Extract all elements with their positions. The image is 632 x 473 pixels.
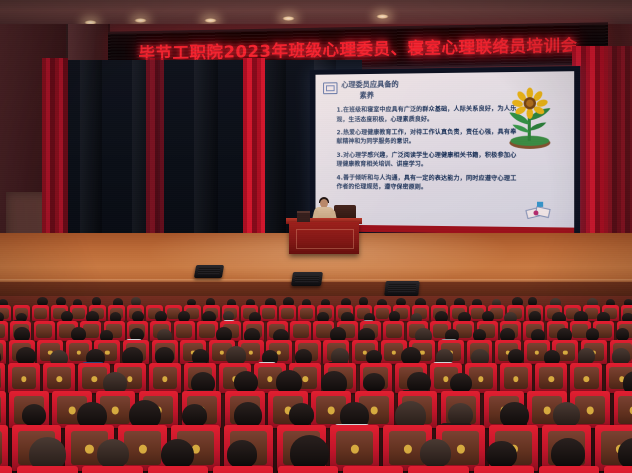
- audience-member: [363, 373, 385, 393]
- seat-number-emblem: [535, 350, 539, 355]
- seat-number-emblem: [443, 376, 448, 382]
- seat-number-emblem: [162, 376, 167, 382]
- seat-number-emblem: [69, 407, 76, 414]
- audience-member: [97, 439, 129, 468]
- seat-number-emblem: [478, 376, 483, 382]
- audience-area: [0, 296, 632, 473]
- seat-number-emblem: [248, 350, 252, 355]
- seat-number-emblem: [21, 376, 26, 382]
- slide-title: 心理委员应具备的 素养: [341, 80, 398, 102]
- audience-member: [486, 441, 516, 469]
- audience-member: [508, 349, 524, 364]
- slide-point: 3.对心理学感兴趣，广泛阅读学生心理健康相关书籍，积极参加心理健康教育相关培训、…: [337, 151, 517, 170]
- seat-number-emblem: [513, 376, 518, 382]
- audience-member: [234, 402, 262, 428]
- stage-curtain-left: [42, 58, 68, 258]
- seat-number-emblem: [404, 445, 412, 454]
- ceiling-downlight: [282, 16, 295, 21]
- audience-member: [578, 348, 595, 364]
- stage-curtain-far-right: [604, 46, 632, 261]
- audience-member: [616, 328, 629, 340]
- seat-number-emblem: [584, 376, 589, 382]
- audience-member: [450, 373, 472, 393]
- seat-number-emblem: [351, 445, 359, 454]
- seat-number-emblem: [549, 376, 554, 382]
- seat-number-emblem: [92, 376, 97, 382]
- stage-curtain-mid: [243, 58, 265, 256]
- seat-number-emblem: [563, 350, 567, 355]
- curtain-fold: [194, 60, 218, 260]
- audience-member: [473, 329, 486, 341]
- slide-point: 2.热爱心理健康教育工作，对待工作认真负责，责任心强，具有奉献精神和为同学服务的…: [337, 128, 517, 147]
- slide-point: 4.善于倾听和与人沟通，具有一定的表达能力，同时应遵守心理工作者的伦理规范，遵守…: [337, 173, 517, 192]
- audience-member: [551, 438, 585, 469]
- auditorium-seat: [343, 466, 403, 473]
- slide-content: 心理委员应具备的 素养 1.在班级和寝室中应具有广泛的群众基础，人际关系良好，为…: [323, 77, 568, 230]
- audience-member: [289, 403, 314, 426]
- stage-monitor-speaker: [194, 265, 224, 278]
- auditorium-seat: [213, 466, 273, 473]
- seat-number-emblem: [85, 445, 93, 454]
- seat-row: [0, 455, 632, 473]
- audience-member: [155, 347, 174, 364]
- laptop: [297, 211, 310, 222]
- auditorium-photo: 毕节工职院2023年班级心理委员、寝室心理联络员培训会 心理委员应具备的 素养: [0, 0, 632, 473]
- seat-number-emblem: [105, 350, 109, 355]
- audience-member: [586, 328, 600, 341]
- seat-number-emblem: [544, 407, 551, 414]
- seat-number-emblem: [371, 407, 378, 414]
- auditorium-seat: [82, 466, 142, 473]
- ceiling-downlight: [134, 18, 147, 23]
- podium-front-panel: [296, 229, 354, 249]
- auditorium-seat: [148, 466, 208, 473]
- audience-member: [227, 440, 257, 468]
- seat-number-emblem: [220, 350, 224, 355]
- auditorium-seat: [539, 466, 599, 473]
- audience-member: [71, 327, 86, 341]
- seat-number-emblem: [303, 376, 308, 382]
- seat-number-emblem: [127, 376, 132, 382]
- audience-member: [161, 439, 194, 469]
- ceiling-downlight: [376, 14, 389, 19]
- seat-number-emblem: [391, 350, 395, 355]
- presentation-icon: [323, 82, 337, 94]
- audience-member: [234, 371, 258, 393]
- seat-number-emblem: [267, 376, 272, 382]
- audience-member: [182, 404, 207, 427]
- stage-curtain-center-left: [146, 58, 164, 256]
- ceiling-downlight: [204, 18, 217, 23]
- books-icon: [525, 200, 554, 221]
- auditorium-seat: [0, 466, 12, 473]
- auditorium-seat: [278, 466, 338, 473]
- slide-point: 1.在班级和寝室中应具有广泛的群众基础，人际关系良好，为人乐观，生活态度积极，心…: [337, 105, 517, 124]
- audience-member: [553, 402, 580, 427]
- stage-monitor-speaker: [384, 281, 420, 296]
- seat-number-emblem: [57, 376, 62, 382]
- slide-title-line1: 心理委员应具备的: [341, 80, 398, 90]
- stage-monitor-speaker: [291, 272, 323, 286]
- seat-number-emblem: [328, 407, 335, 414]
- curtain-fold: [80, 60, 102, 260]
- slide-title-line2: 素养: [360, 90, 399, 101]
- seat-number-emblem: [457, 445, 465, 454]
- seat-number-emblem: [587, 407, 594, 414]
- podium: [289, 222, 359, 254]
- auditorium-seat: [604, 466, 632, 473]
- sunflower-icon: [497, 86, 563, 151]
- seat-number-emblem: [77, 350, 81, 355]
- audience-member: [420, 439, 450, 467]
- auditorium-seat: [17, 466, 77, 473]
- seat-number-emblem: [112, 407, 119, 414]
- auditorium-seat: [474, 466, 534, 473]
- seat-number-emblem: [138, 445, 146, 454]
- auditorium-seat: [408, 466, 468, 473]
- audience-member: [22, 404, 47, 427]
